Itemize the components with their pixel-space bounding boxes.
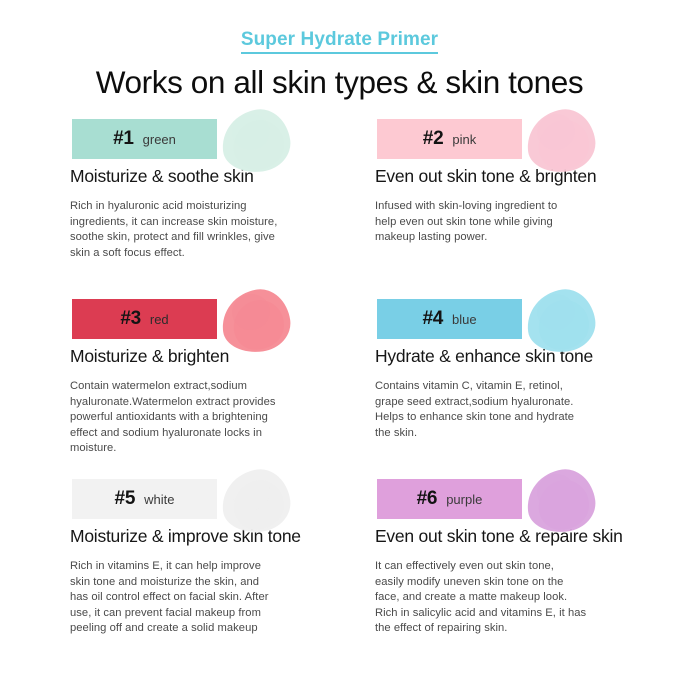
variant-number-6: #6	[417, 488, 438, 510]
variant-color-name-4: blue	[452, 312, 477, 327]
cream-swatch-icon-1	[222, 110, 290, 172]
variant-title-5: Moisturize & improve skin tone	[70, 526, 357, 547]
product-eyebrow-title: Super Hydrate Primer	[241, 29, 438, 54]
swatch-blob-highlight-1	[228, 110, 274, 154]
variant-banner-4: #4 blue	[377, 299, 522, 339]
variant-banner-6: #6 purple	[377, 479, 522, 519]
variant-card-4: #4 blue Hydrate & enhance skin tone Cont…	[375, 299, 662, 479]
page-headline: Works on all skin types & skin tones	[0, 65, 679, 100]
variant-description-2: Infused with skin-loving ingredient tohe…	[375, 199, 637, 245]
cream-swatch-icon-4	[527, 290, 595, 352]
variant-title-1: Moisturize & soothe skin	[70, 166, 357, 187]
cream-swatch-icon-6	[527, 470, 595, 532]
variant-banner-row-3: #3 red	[70, 299, 357, 344]
swatch-blob-highlight-2	[533, 110, 579, 154]
variant-color-name-6: purple	[446, 492, 482, 507]
variant-card-grid: #1 green Moisturize & soothe skin Rich i…	[0, 119, 679, 674]
variant-banner-row-2: #2 pink	[375, 119, 662, 164]
cream-swatch-icon-5	[222, 470, 290, 532]
variant-number-4: #4	[422, 308, 443, 330]
variant-title-4: Hydrate & enhance skin tone	[375, 346, 662, 367]
swatch-blob-mid-2	[537, 118, 592, 173]
infographic-page: Super Hydrate Primer Works on all skin t…	[0, 0, 679, 679]
variant-title-3: Moisturize & brighten	[70, 346, 357, 367]
variant-banner-3: #3 red	[72, 299, 217, 339]
variant-number-2: #2	[423, 128, 444, 150]
variant-card-2: #2 pink Even out skin tone & brighten In…	[375, 119, 662, 299]
variant-description-5: Rich in vitamins E, it can help improves…	[70, 559, 332, 636]
variant-banner-row-6: #6 purple	[375, 479, 662, 524]
variant-number-5: #5	[115, 488, 136, 510]
swatch-blob-mid-6	[537, 478, 592, 533]
variant-color-name-3: red	[150, 312, 169, 327]
variant-description-3: Contain watermelon extract,sodiumhyaluro…	[70, 379, 332, 456]
variant-banner-5: #5 white	[72, 479, 217, 519]
variant-description-1: Rich in hyaluronic acid moisturizingingr…	[70, 199, 332, 261]
swatch-blob-mid-5	[232, 478, 287, 533]
variant-banner-1: #1 green	[72, 119, 217, 159]
variant-card-1: #1 green Moisturize & soothe skin Rich i…	[70, 119, 357, 299]
swatch-blob-mid-1	[232, 118, 287, 173]
variant-color-name-2: pink	[452, 132, 476, 147]
swatch-blob-mid-3	[232, 298, 287, 353]
cream-swatch-icon-2	[527, 110, 595, 172]
variant-description-6: It can effectively even out skin tone,ea…	[375, 559, 637, 636]
variant-color-name-1: green	[143, 132, 176, 147]
variant-title-2: Even out skin tone & brighten	[375, 166, 662, 187]
variant-number-3: #3	[120, 308, 141, 330]
variant-color-name-5: white	[144, 492, 174, 507]
variant-number-1: #1	[113, 128, 134, 150]
swatch-blob-mid-4	[537, 298, 592, 353]
variant-banner-row-4: #4 blue	[375, 299, 662, 344]
variant-banner-row-5: #5 white	[70, 479, 357, 524]
variant-card-6: #6 purple Even out skin tone & repaire s…	[375, 479, 662, 674]
variant-title-6: Even out skin tone & repaire skin	[375, 526, 662, 547]
variant-banner-2: #2 pink	[377, 119, 522, 159]
variant-card-3: #3 red Moisturize & brighten Contain wat…	[70, 299, 357, 479]
variant-banner-row-1: #1 green	[70, 119, 357, 164]
variant-card-5: #5 white Moisturize & improve skin tone …	[70, 479, 357, 674]
variant-description-4: Contains vitamin C, vitamin E, retinol,g…	[375, 379, 637, 441]
header: Super Hydrate Primer Works on all skin t…	[0, 0, 679, 99]
cream-swatch-icon-3	[222, 290, 290, 352]
